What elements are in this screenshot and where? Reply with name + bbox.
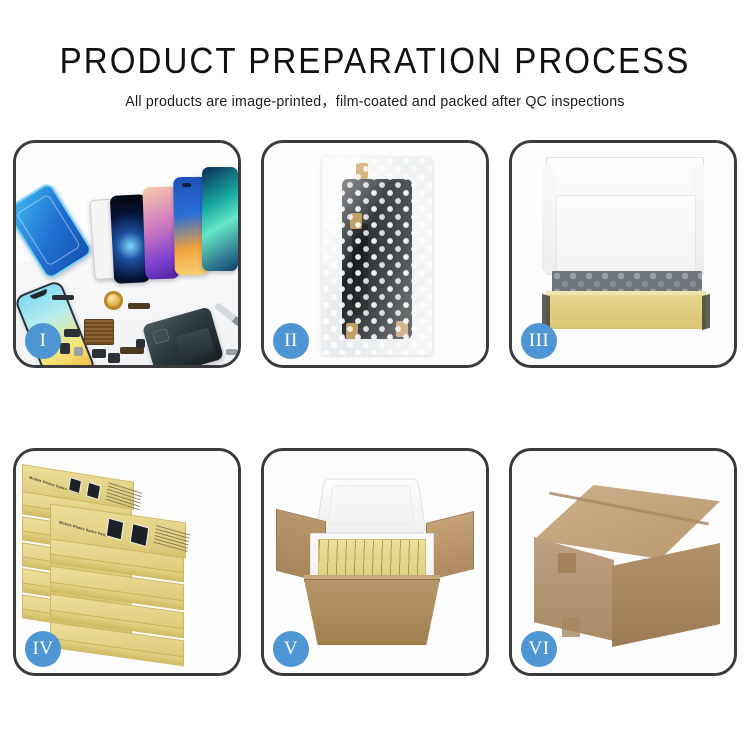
carton-front-graphic — [304, 579, 440, 645]
chip-part-graphic — [136, 339, 145, 348]
step-panel-3: III — [509, 140, 737, 368]
step-panel-4: Mobile Phone Spare Parts Mobile Phone Sp… — [13, 448, 241, 676]
screws-graphic — [226, 349, 237, 355]
box-label-spec-lines — [154, 523, 190, 552]
taptic-part-graphic — [108, 353, 120, 363]
step-panel-5: V — [261, 448, 489, 676]
box-label-text: Mobile Phone Spare Parts — [59, 520, 108, 538]
step-panel-6: VI — [509, 448, 737, 676]
page-subtitle: All products are image-printed，film-coat… — [11, 90, 739, 111]
step-panel-2: II — [261, 140, 489, 368]
yellow-box-base-graphic — [546, 295, 706, 329]
step-badge-4: IV — [25, 631, 61, 667]
gold-coil-part-graphic — [104, 291, 123, 310]
process-steps-grid: I II III — [13, 140, 737, 676]
step-badge-3: III — [521, 323, 557, 359]
box-label-phone-image — [106, 518, 124, 541]
step-badge-5: V — [273, 631, 309, 667]
screw-set-graphic — [74, 347, 83, 356]
bracket-part-graphic — [92, 349, 106, 358]
bubble-wrap-bag-graphic — [322, 157, 432, 355]
flex-cable-2-part-graphic — [120, 347, 144, 354]
box-label-phone-image — [130, 523, 150, 547]
box-label-spec-lines — [106, 480, 143, 510]
step-badge-2: II — [273, 323, 309, 359]
step-badge-6: VI — [521, 631, 557, 667]
carton-right-face-graphic — [612, 543, 720, 647]
step-panel-1: I — [13, 140, 241, 368]
camera-part-graphic — [60, 343, 70, 354]
step-badge-1: I — [25, 323, 61, 359]
flex-cable-part-graphic — [128, 303, 150, 309]
box-label-phone-image — [86, 482, 101, 501]
carton-tape-graphic — [562, 617, 580, 637]
packed-inner-boxes-graphic — [318, 539, 426, 579]
logic-board-part-graphic — [84, 319, 114, 345]
plastic-sheen — [322, 157, 432, 355]
phone-screen-teal-graphic — [202, 167, 238, 271]
box-flap-left-graphic — [542, 164, 556, 271]
page-header: PRODUCT PREPARATION PROCESS All products… — [0, 0, 750, 111]
carton-tape-graphic — [558, 553, 576, 573]
connector-part-graphic — [64, 329, 80, 337]
page-title: PRODUCT PREPARATION PROCESS — [30, 42, 720, 80]
foam-lid-graphic — [316, 479, 427, 534]
foam-sheet-graphic — [556, 195, 696, 273]
speaker-part-graphic — [52, 295, 74, 300]
